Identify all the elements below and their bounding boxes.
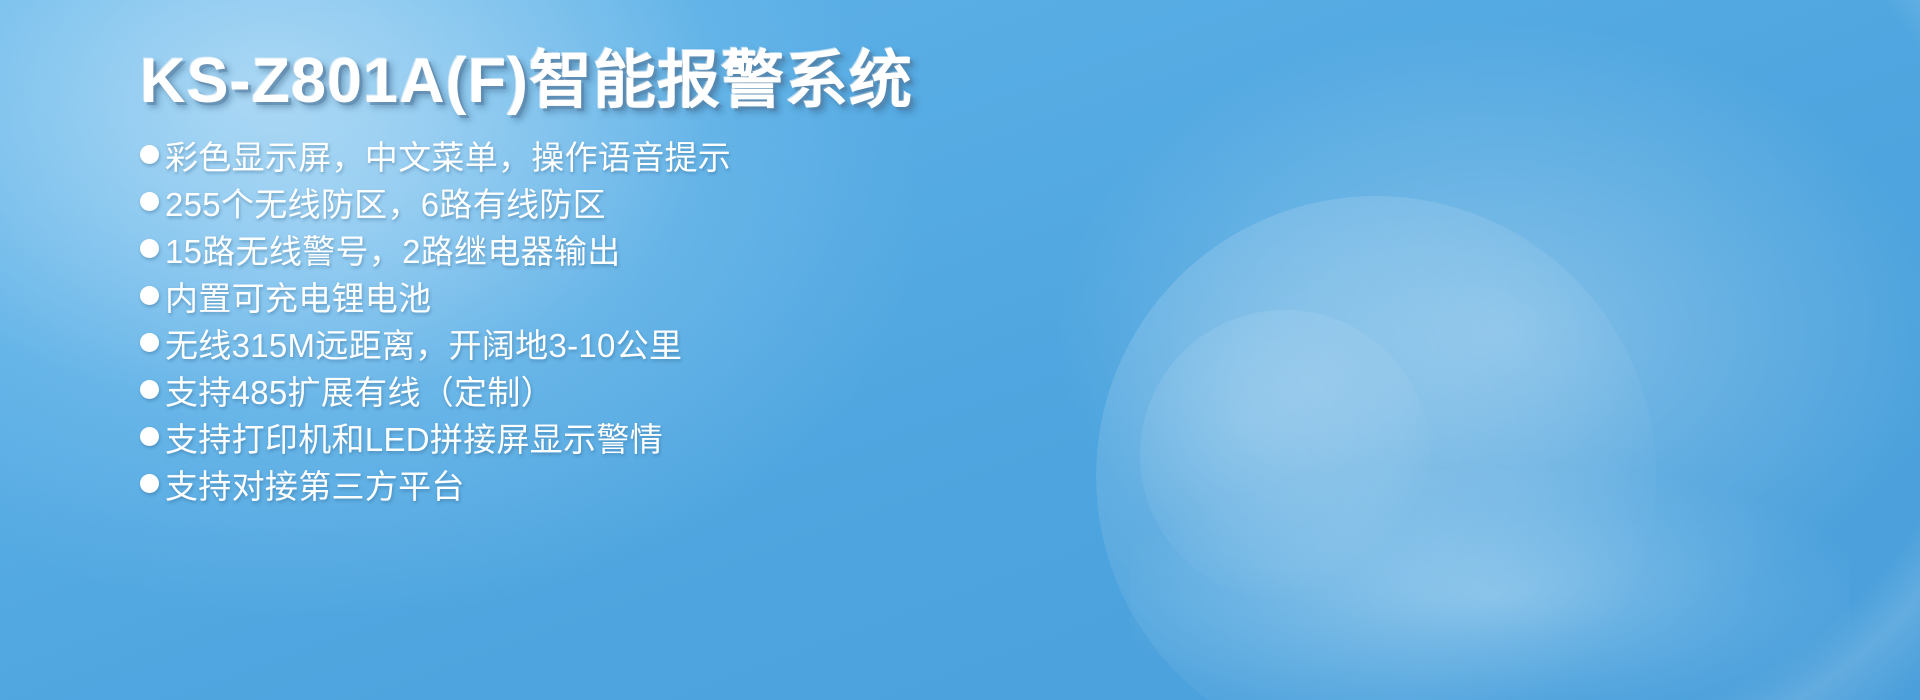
alarm-panel-product-image: 22 27 01-01-01 从预留 总电 备电 故障 联动: [960, 0, 1920, 700]
bullet-icon: [140, 145, 159, 164]
list-item: 支持打印机和LED拼接屏显示警情: [140, 415, 1040, 459]
page-title: KS-Z801A(F)智能报警系统: [140, 46, 1040, 117]
feature-text: 内置可充电锂电池: [165, 272, 431, 320]
bullet-icon: [140, 474, 159, 493]
bullet-icon: [140, 380, 159, 399]
bullet-icon: [140, 427, 159, 446]
bullet-icon: [140, 333, 159, 352]
list-item: 255个无线防区，6路有线防区: [140, 180, 1040, 224]
bullet-icon: [140, 192, 159, 211]
bullet-icon: [140, 286, 159, 305]
bullet-icon: [140, 239, 159, 258]
feature-text: 无线315M远距离，开阔地3-10公里: [165, 319, 682, 367]
feature-text: 彩色显示屏，中文菜单，操作语音提示: [165, 131, 731, 179]
feature-text: 255个无线防区，6路有线防区: [165, 178, 606, 226]
list-item: 无线315M远距离，开阔地3-10公里: [140, 321, 1040, 365]
list-item: 15路无线警号，2路继电器输出: [140, 227, 1040, 271]
list-item: 彩色显示屏，中文菜单，操作语音提示: [140, 133, 1040, 177]
feature-list: 彩色显示屏，中文菜单，操作语音提示 255个无线防区，6路有线防区 15路无线警…: [140, 133, 1040, 506]
feature-text: 支持对接第三方平台: [165, 460, 465, 508]
product-banner: KS-Z801A(F)智能报警系统 彩色显示屏，中文菜单，操作语音提示 255个…: [0, 0, 1920, 700]
feature-text: 支持打印机和LED拼接屏显示警情: [165, 413, 663, 461]
list-item: 内置可充电锂电池: [140, 274, 1040, 318]
banner-text-block: KS-Z801A(F)智能报警系统 彩色显示屏，中文菜单，操作语音提示 255个…: [140, 46, 1040, 509]
list-item: 支持485扩展有线（定制）: [140, 368, 1040, 412]
feature-text: 支持485扩展有线（定制）: [165, 366, 554, 414]
list-item: 支持对接第三方平台: [140, 462, 1040, 506]
feature-text: 15路无线警号，2路继电器输出: [165, 225, 621, 273]
